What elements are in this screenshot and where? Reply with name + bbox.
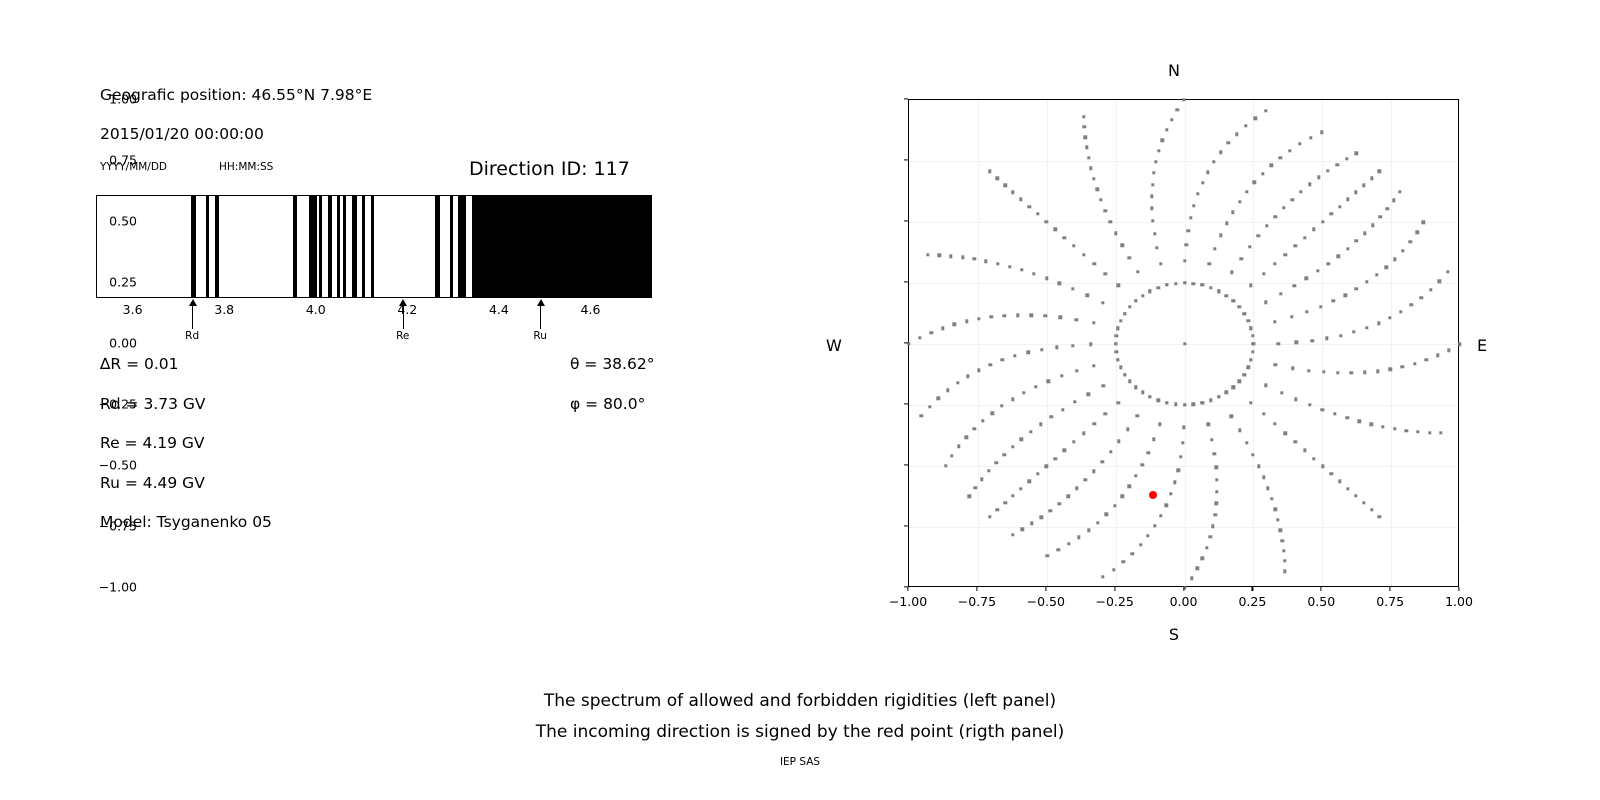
direction-dot	[1011, 494, 1014, 497]
direction-dot	[1219, 151, 1222, 154]
direction-dot	[1355, 239, 1358, 242]
direction-dot	[1055, 346, 1058, 349]
direction-dot	[1136, 414, 1139, 417]
direction-dot	[1141, 294, 1144, 297]
direction-dot	[1378, 170, 1381, 173]
direction-dot	[1354, 190, 1357, 193]
direction-dot	[1363, 371, 1366, 374]
direction-dot	[1165, 503, 1168, 506]
direction-dot	[1344, 293, 1347, 296]
direction-dot	[1189, 216, 1192, 219]
direction-dot	[1262, 272, 1265, 275]
direction-dot	[1116, 327, 1119, 330]
plot-ytick-mark	[904, 464, 908, 465]
direction-dot	[965, 320, 968, 323]
direction-dot	[1225, 294, 1228, 297]
direction-dot	[946, 389, 949, 392]
plot-ytick-label: 0.50	[109, 214, 137, 229]
direction-dot	[1284, 253, 1287, 256]
direction-dot	[1385, 207, 1388, 210]
direction-dot	[1008, 265, 1011, 268]
direction-dot	[957, 445, 960, 448]
direction-dot	[1209, 535, 1212, 538]
direction-dot	[1058, 282, 1061, 285]
direction-dot	[1148, 395, 1151, 398]
direction-dot	[1073, 400, 1076, 403]
direction-dot	[1346, 198, 1349, 201]
direction-dot	[1205, 546, 1208, 549]
direction-dot	[1375, 273, 1378, 276]
direction-dot	[1355, 152, 1358, 155]
direction-dot	[1053, 457, 1056, 460]
direction-dot	[1242, 312, 1245, 315]
direction-dot	[1209, 399, 1212, 402]
plot-xtick-mark	[1390, 587, 1391, 591]
plot-xtick-label: 0.50	[1307, 594, 1335, 609]
direction-dot	[1409, 240, 1412, 243]
direction-dot	[1283, 559, 1286, 562]
direction-dot	[1294, 440, 1297, 443]
direction-dot	[1317, 176, 1320, 179]
plot-ytick-mark	[904, 403, 908, 404]
direction-dot	[1183, 259, 1186, 262]
direction-dot	[1139, 543, 1142, 546]
caption-line-1: The incoming direction is signed by the …	[0, 717, 1600, 748]
direction-dot	[1266, 486, 1269, 489]
direction-dot	[1092, 470, 1095, 473]
direction-dot	[1290, 315, 1293, 318]
direction-dot	[1237, 305, 1240, 308]
direction-dot	[1401, 249, 1404, 252]
direction-dot	[1040, 516, 1043, 519]
direction-dot	[1246, 319, 1249, 322]
direction-dot	[1261, 172, 1264, 175]
direction-dot	[1101, 301, 1104, 304]
plot-xtick-label: −0.50	[1027, 594, 1065, 609]
direction-dot	[1254, 116, 1257, 119]
plot-xtick-mark	[1321, 587, 1322, 591]
direction-dot	[1277, 342, 1280, 345]
direction-dot	[928, 405, 931, 408]
direction-dot	[1309, 136, 1312, 139]
direction-dot	[1363, 231, 1366, 234]
direction-dot	[1003, 453, 1006, 456]
direction-dot	[1196, 192, 1199, 195]
direction-dot	[1183, 403, 1186, 406]
direction-dot	[1196, 567, 1199, 570]
direction-dot	[1115, 350, 1118, 353]
direction-dot	[1128, 485, 1131, 488]
direction-dot	[1061, 408, 1064, 411]
direction-dot	[1257, 464, 1260, 467]
direction-dot	[1045, 465, 1048, 468]
direction-dot	[1362, 183, 1365, 186]
direction-dot	[1211, 524, 1214, 527]
plot-ytick-mark	[904, 525, 908, 526]
direction-dot	[1321, 408, 1324, 411]
direction-dot	[1192, 282, 1195, 285]
direction-dot	[1279, 156, 1282, 159]
direction-dot	[1370, 508, 1373, 511]
direction-dot	[1190, 577, 1193, 580]
plot-ytick-mark	[904, 220, 908, 221]
direction-dot	[1120, 495, 1123, 498]
direction-dot	[1265, 224, 1268, 227]
direction-dot	[1050, 415, 1053, 418]
direction-dot	[1128, 305, 1131, 308]
gridline-vertical	[978, 100, 979, 586]
direction-dot	[1122, 560, 1125, 563]
direction-dot	[1183, 342, 1186, 345]
direction-dot	[1036, 212, 1039, 215]
direction-dot	[1099, 198, 1102, 201]
direction-dot	[1209, 286, 1212, 289]
direction-dot	[1365, 280, 1368, 283]
direction-dot	[1264, 109, 1267, 112]
direction-dot	[1377, 321, 1380, 324]
direction-dot	[1049, 509, 1052, 512]
direction-dot	[1156, 399, 1159, 402]
direction-dot	[1401, 365, 1404, 368]
direction-dot	[1013, 354, 1016, 357]
direction-dot	[1151, 183, 1154, 186]
direction-dot	[1114, 342, 1117, 345]
direction-dot	[1322, 370, 1325, 373]
direction-dot	[972, 427, 975, 430]
direction-dot	[1392, 199, 1395, 202]
direction-dot	[1020, 438, 1023, 441]
direction-dot	[1028, 205, 1031, 208]
direction-dot	[1244, 124, 1247, 127]
direction-dot	[1181, 441, 1184, 444]
direction-dot	[1262, 476, 1265, 479]
direction-dot	[1238, 428, 1241, 431]
direction-dot	[1131, 552, 1134, 555]
direction-dot	[987, 469, 990, 472]
direction-dot	[1213, 452, 1216, 455]
direction-dot	[1060, 374, 1063, 377]
direction-dot	[1170, 118, 1173, 121]
direction-dot	[1295, 341, 1298, 344]
selected-direction-point	[1149, 491, 1157, 499]
direction-dot	[1165, 128, 1168, 131]
plot-ytick-label: −0.25	[99, 397, 137, 412]
direction-dot	[937, 397, 940, 400]
direction-dot	[1251, 350, 1254, 353]
plot-ytick-label: 0.75	[109, 153, 137, 168]
direction-dot	[1150, 195, 1153, 198]
direction-dot	[1173, 481, 1176, 484]
direction-dot	[1332, 299, 1335, 302]
plot-xtick-label: 0.25	[1238, 594, 1266, 609]
direction-dot	[1177, 468, 1180, 471]
direction-dot	[1156, 286, 1159, 289]
gridline-horizontal	[909, 527, 1458, 528]
direction-dot	[1192, 204, 1195, 207]
direction-dot	[1057, 548, 1060, 551]
direction-dot	[1020, 268, 1023, 271]
direction-dot	[956, 381, 959, 384]
direction-dot	[1034, 385, 1037, 388]
direction-dot	[1115, 334, 1118, 337]
direction-dot	[1333, 412, 1336, 415]
direction-dot	[1087, 529, 1090, 532]
direction-dot	[1148, 289, 1151, 292]
direction-dot	[977, 369, 980, 372]
plot-ytick-label: 0.00	[109, 336, 137, 351]
direction-dot	[1249, 401, 1252, 404]
direction-dot	[1077, 536, 1080, 539]
direction-dot	[1126, 428, 1129, 431]
direction-dot	[1208, 262, 1211, 265]
direction-dot	[1159, 262, 1162, 265]
direction-dot	[1384, 266, 1387, 269]
direction-dot	[1075, 369, 1078, 372]
direction-dot	[1095, 187, 1098, 190]
direction-dot	[1158, 422, 1161, 425]
direction-dot	[1330, 472, 1333, 475]
direction-dot	[1207, 423, 1210, 426]
direction-dot	[1011, 398, 1014, 401]
direction-dot	[1283, 569, 1286, 572]
direction-dot	[1083, 125, 1086, 128]
direction-dot	[1027, 351, 1030, 354]
compass-label-north: N	[1168, 61, 1180, 80]
plot-xtick-label: −0.75	[958, 594, 996, 609]
direction-dot	[1155, 246, 1158, 249]
direction-dot	[1053, 228, 1056, 231]
direction-dot	[1150, 207, 1153, 210]
gridline-vertical	[1322, 100, 1323, 586]
direction-dot	[1416, 430, 1419, 433]
direction-dot	[1413, 362, 1416, 365]
direction-dot	[1235, 133, 1238, 136]
gridline-horizontal	[909, 161, 1458, 162]
direction-dot	[1248, 245, 1251, 248]
direction-dot	[1169, 492, 1172, 495]
direction-dot	[1087, 156, 1090, 159]
direction-dot	[1225, 222, 1228, 225]
direction-dot	[1045, 220, 1048, 223]
direction-dot	[1336, 371, 1339, 374]
direction-dot	[929, 331, 932, 334]
direction-dot	[938, 254, 941, 257]
direction-dot	[1281, 539, 1284, 542]
plot-xtick-mark	[1183, 587, 1184, 591]
direction-dot	[1011, 445, 1014, 448]
direction-dot	[1123, 312, 1126, 315]
direction-dot	[1299, 190, 1302, 193]
direction-dot	[1388, 316, 1391, 319]
direction-dot	[1371, 223, 1374, 226]
direction-dot	[1393, 427, 1396, 430]
direction-dot	[1117, 439, 1120, 442]
direction-dot	[973, 257, 976, 260]
plot-ytick-label: 0.25	[109, 275, 137, 290]
direction-dot	[1229, 414, 1232, 417]
direction-dot	[1109, 220, 1112, 223]
direction-dot	[1312, 457, 1315, 460]
gridline-vertical	[1391, 100, 1392, 586]
direction-dot	[1294, 397, 1297, 400]
direction-dot	[1274, 363, 1277, 366]
direction-dot	[1003, 501, 1006, 504]
direction-dot	[1082, 115, 1085, 118]
direction-dot	[1029, 430, 1032, 433]
direction-dot	[1355, 287, 1358, 290]
direction-dot	[964, 436, 967, 439]
direction-dot	[1308, 183, 1311, 186]
direction-dot	[1016, 313, 1019, 316]
incoming-direction-panel: N S W E −1.00−0.75−0.50−0.250.000.250.50…	[0, 0, 1600, 660]
direction-dot	[1294, 244, 1297, 247]
direction-dot	[1270, 164, 1273, 167]
footer-organization: IEP SAS	[0, 756, 1600, 768]
direction-dot	[1039, 423, 1042, 426]
direction-dot	[1116, 284, 1119, 287]
direction-dot	[961, 256, 964, 259]
direction-dot	[1439, 431, 1442, 434]
direction-dot	[1352, 330, 1355, 333]
direction-dot	[1446, 270, 1449, 273]
direction-dot	[1109, 450, 1112, 453]
direction-dot	[1215, 490, 1218, 493]
direction-dot	[1003, 314, 1006, 317]
direction-dot	[1308, 403, 1311, 406]
direction-dot	[1067, 542, 1070, 545]
direction-dot	[1237, 379, 1240, 382]
direction-dot	[1089, 166, 1092, 169]
direction-dot	[1215, 478, 1218, 481]
direction-dot	[1231, 299, 1234, 302]
direction-dot	[1273, 422, 1276, 425]
direction-dot	[1022, 391, 1025, 394]
direction-dot	[1213, 247, 1216, 250]
direction-dot	[1036, 472, 1039, 475]
direction-dot	[1292, 284, 1295, 287]
plot-ytick-label: 1.00	[109, 92, 137, 107]
direction-dot	[949, 254, 952, 257]
direction-dot	[1350, 371, 1353, 374]
direction-dot	[1273, 508, 1276, 511]
direction-dot	[1092, 364, 1095, 367]
direction-dot	[1378, 215, 1381, 218]
direction-dot	[1239, 257, 1242, 260]
direction-dot	[920, 414, 923, 417]
direction-dot	[1291, 198, 1294, 201]
plot-xtick-mark	[1045, 587, 1046, 591]
direction-dot	[1128, 379, 1131, 382]
direction-dot	[1182, 425, 1185, 428]
plot-xtick-mark	[1252, 587, 1253, 591]
direction-dot	[1346, 416, 1349, 419]
plot-ytick-mark	[904, 98, 908, 99]
direction-dot	[1376, 369, 1379, 372]
polar-scatter-plot	[908, 99, 1459, 587]
direction-dot	[1303, 236, 1306, 239]
direction-dot	[1245, 190, 1248, 193]
direction-dot	[1242, 373, 1245, 376]
plot-xtick-mark	[1458, 587, 1459, 591]
direction-dot	[1312, 228, 1315, 231]
direction-dot	[1074, 318, 1077, 321]
direction-dot	[1114, 232, 1117, 235]
direction-dot	[996, 262, 999, 265]
direction-dot	[1245, 441, 1248, 444]
direction-dot	[1201, 556, 1204, 559]
direction-dot	[1058, 502, 1061, 505]
direction-dot	[1326, 169, 1329, 172]
direction-dot	[1345, 157, 1348, 160]
direction-dot	[1279, 292, 1282, 295]
direction-dot	[966, 375, 969, 378]
direction-dot	[1104, 272, 1107, 275]
gridline-horizontal	[909, 222, 1458, 223]
direction-dot	[1084, 136, 1087, 139]
direction-dot	[1336, 254, 1339, 257]
direction-dot	[1075, 487, 1078, 490]
plot-ytick-mark	[904, 342, 908, 343]
direction-dot	[1280, 391, 1283, 394]
direction-dot	[1201, 181, 1204, 184]
direction-dot	[1141, 463, 1144, 466]
plot-ytick-mark	[904, 159, 908, 160]
direction-dot	[988, 515, 991, 518]
direction-dot	[1217, 395, 1220, 398]
direction-dot	[1273, 262, 1276, 265]
direction-dot	[1206, 170, 1209, 173]
direction-dot	[1100, 460, 1103, 463]
direction-dot	[1082, 432, 1085, 435]
direction-dot	[1086, 392, 1089, 395]
direction-dot	[1063, 449, 1066, 452]
direction-dot	[1338, 480, 1341, 483]
direction-dot	[1305, 277, 1308, 280]
direction-dot	[974, 486, 977, 489]
direction-dot	[1161, 139, 1164, 142]
direction-dot	[1183, 281, 1186, 284]
direction-dot	[1273, 320, 1276, 323]
direction-dot	[1210, 438, 1213, 441]
direction-dot	[1422, 221, 1425, 224]
compass-label-south: S	[1169, 625, 1179, 644]
direction-dot	[1030, 522, 1033, 525]
direction-dot	[1238, 200, 1241, 203]
direction-dot	[1119, 319, 1122, 322]
direction-dot	[1257, 234, 1260, 237]
direction-dot	[1251, 453, 1254, 456]
direction-dot	[1246, 366, 1249, 369]
direction-dot	[1089, 343, 1092, 346]
direction-dot	[1179, 455, 1182, 458]
direction-dot	[1270, 497, 1273, 500]
direction-dot	[1227, 141, 1230, 144]
direction-dot	[1316, 269, 1319, 272]
direction-dot	[1092, 262, 1095, 265]
direction-dot	[1146, 534, 1149, 537]
direction-dot	[981, 419, 984, 422]
direction-dot	[1230, 270, 1233, 273]
direction-dot	[1303, 449, 1306, 452]
direction-dot	[1121, 243, 1124, 246]
plot-xtick-mark	[976, 587, 977, 591]
compass-label-west: W	[826, 336, 842, 355]
direction-dot	[1152, 171, 1155, 174]
direction-dot	[1116, 358, 1119, 361]
direction-dot	[1123, 373, 1126, 376]
direction-dot	[1102, 384, 1105, 387]
direction-dot	[1291, 367, 1294, 370]
